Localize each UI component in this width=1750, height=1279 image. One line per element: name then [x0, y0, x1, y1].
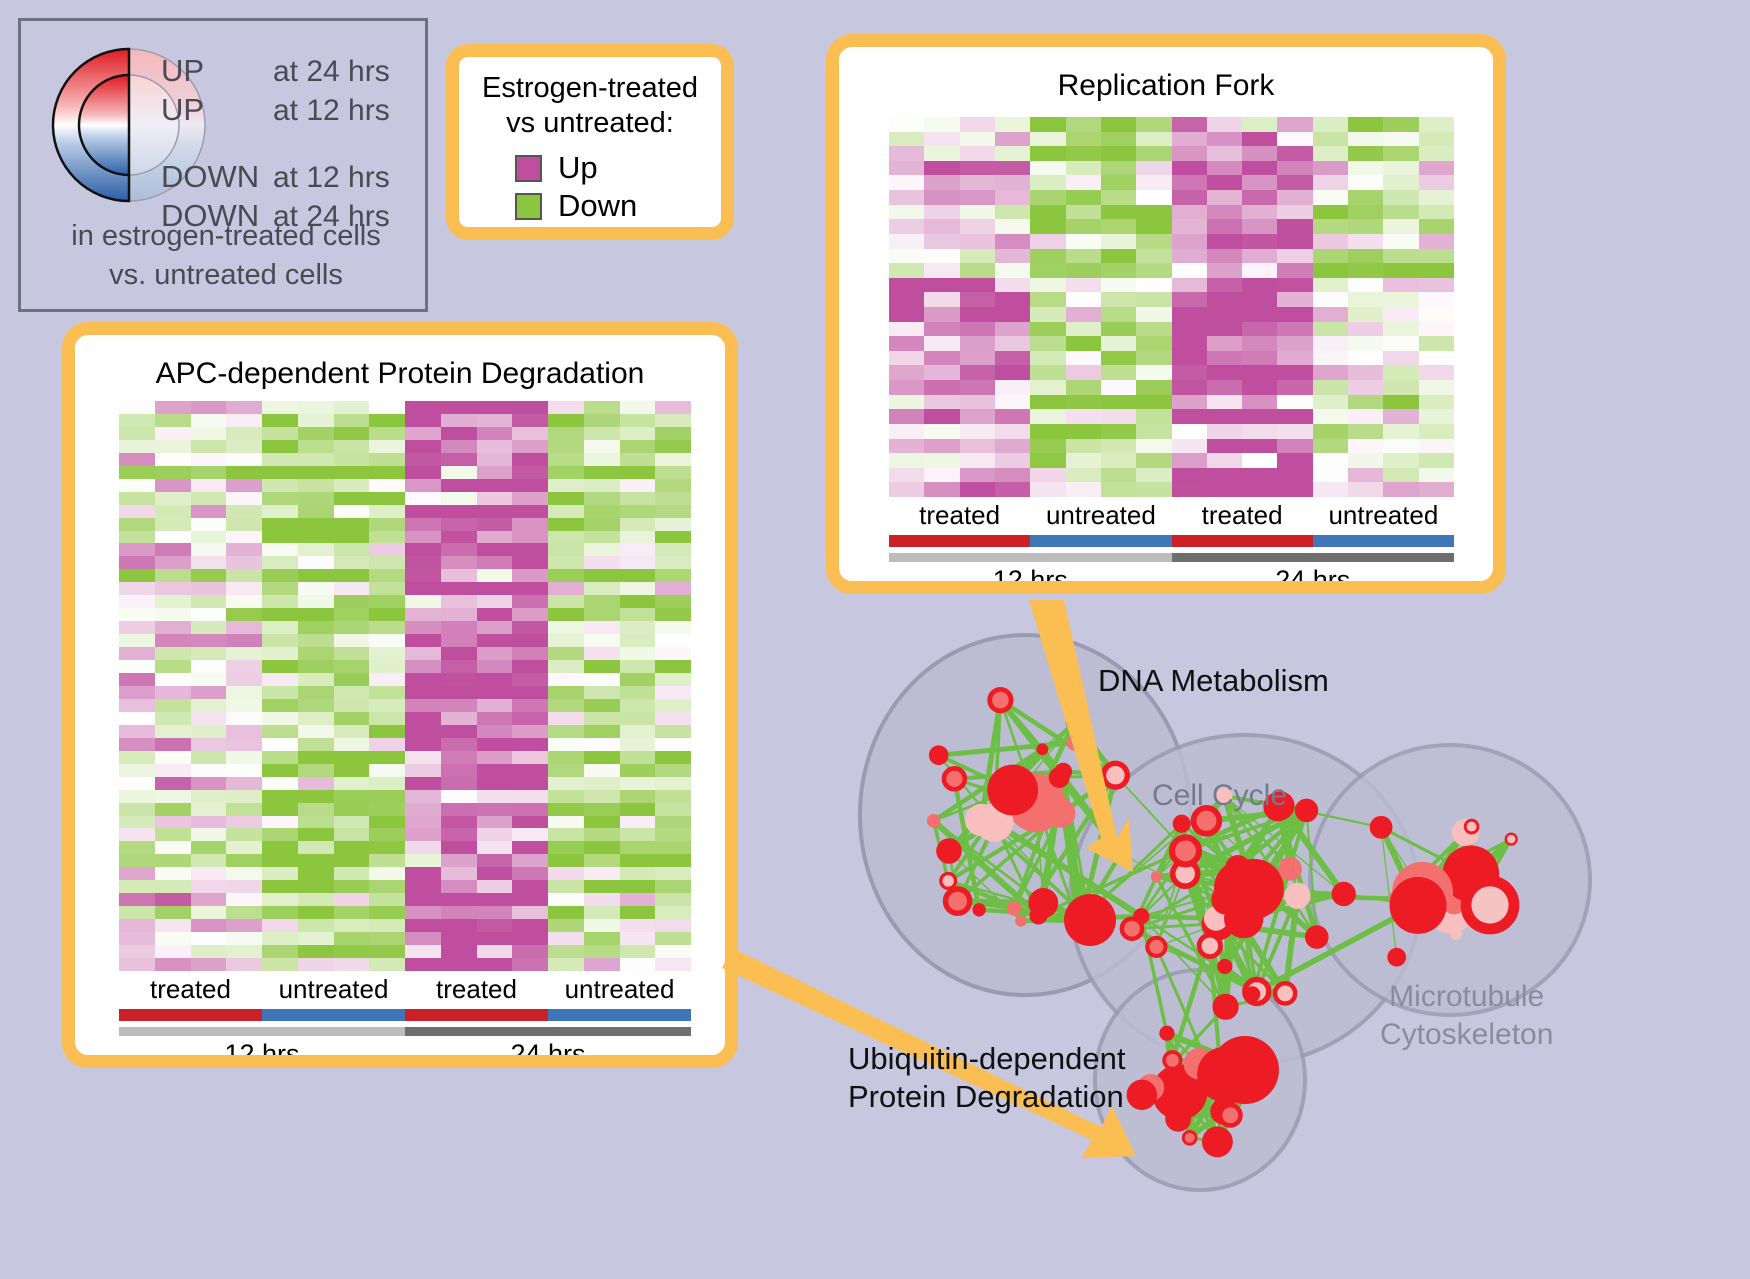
heatmap-cell: [119, 401, 155, 414]
heatmap-cell: [155, 828, 191, 841]
network-node: [1465, 820, 1478, 833]
heatmap-cell: [155, 466, 191, 479]
heatmap-cell: [119, 673, 155, 686]
heatmap-cell: [1313, 380, 1348, 395]
heatmap-cell: [512, 958, 548, 971]
heatmap-cell: [960, 424, 995, 439]
heatmap-cell: [334, 401, 370, 414]
heatmap-cell: [334, 945, 370, 958]
heatmap-cell: [119, 958, 155, 971]
heatmap-cell: [262, 686, 298, 699]
heatmap-cell: [262, 466, 298, 479]
heatmap-cell: [889, 409, 924, 424]
network-node: [1217, 959, 1232, 974]
network-label-ubiquitin-protein-degradation: Ubiquitin-dependent Protein Degradation: [848, 1040, 1126, 1116]
heatmap-cell: [1242, 336, 1277, 351]
heatmap-cell: [1419, 234, 1454, 249]
heatmap-cell: [262, 803, 298, 816]
heatmap-cell: [1277, 424, 1312, 439]
heatmap-cell: [298, 518, 334, 531]
heatmap-cell: [995, 482, 1030, 497]
heatmap-cell: [191, 828, 227, 841]
heatmap-cell: [369, 906, 405, 919]
heatmap-cell: [119, 803, 155, 816]
heatmap-cell: [477, 880, 513, 893]
heatmap-cell: [119, 945, 155, 958]
heatmap-cell: [155, 531, 191, 544]
heatmap-cell: [155, 777, 191, 790]
heatmap-cell: [1066, 468, 1101, 483]
heatmap-cell: [262, 531, 298, 544]
heatmap-cell: [1066, 322, 1101, 337]
heatmap-cell: [1101, 351, 1136, 366]
heatmap-cell: [334, 466, 370, 479]
heatmap-cell: [119, 828, 155, 841]
heatmap-cell: [620, 828, 656, 841]
heatmap-cell: [1172, 468, 1207, 483]
heatmap-cell: [1277, 336, 1312, 351]
heatmap-cell: [405, 764, 441, 777]
heatmap-cell: [960, 351, 995, 366]
heatmap-cell: [119, 932, 155, 945]
heatmap-cell: [584, 712, 620, 725]
heatmap-cell: [155, 492, 191, 505]
heatmap-cell: [155, 867, 191, 880]
heatmap-cell: [155, 647, 191, 660]
heatmap-cell: [441, 764, 477, 777]
heatmap-cell: [405, 621, 441, 634]
heatmap-cell: [1242, 439, 1277, 454]
heatmap-cell: [155, 906, 191, 919]
heatmap-cell: [1136, 249, 1171, 264]
heatmap-cell: [477, 919, 513, 932]
heatmap-cell: [191, 634, 227, 647]
heatmap-cell: [1172, 249, 1207, 264]
heatmap-cell: [512, 854, 548, 867]
heatmap-cell: [512, 608, 548, 621]
heatmap-cell: [960, 409, 995, 424]
heatmap-cell: [1348, 395, 1383, 410]
heatmap-cell: [119, 414, 155, 427]
heatmap-cell: [334, 479, 370, 492]
heatmap-cell: [995, 146, 1030, 161]
heatmap-cell: [1101, 336, 1136, 351]
heatmap-cell: [548, 854, 584, 867]
heatmap-cell: [1313, 205, 1348, 220]
heatmap-cell: [262, 932, 298, 945]
heatmap-cell: [584, 608, 620, 621]
heatmap-cell: [226, 777, 262, 790]
heatmap-cell: [262, 401, 298, 414]
heatmap-cell: [441, 401, 477, 414]
heatmap-cell: [262, 841, 298, 854]
heatmap-cell: [512, 479, 548, 492]
heatmap-cell: [262, 660, 298, 673]
heatmap-cell: [548, 945, 584, 958]
heatmap-cell: [584, 531, 620, 544]
heatmap-cell: [1066, 190, 1101, 205]
heatmap-cell: [548, 621, 584, 634]
heatmap-cell: [1242, 453, 1277, 468]
heatmap-cell: [334, 738, 370, 751]
heatmap-cell: [298, 582, 334, 595]
sample-group-bars-apc: [119, 1009, 691, 1021]
heatmap-cell: [226, 621, 262, 634]
heatmap-cell: [262, 582, 298, 595]
heatmap-cell: [548, 492, 584, 505]
heatmap-cell: [889, 453, 924, 468]
heatmap-cell: [405, 505, 441, 518]
heatmap-cell: [512, 906, 548, 919]
heatmap-cell: [924, 190, 959, 205]
heatmap-cell: [191, 880, 227, 893]
heatmap-cell: [119, 582, 155, 595]
color-key-box: UP at 24 hrs UP at 12 hrs DOWN at 12 hrs…: [18, 18, 428, 312]
heatmap-cell: [1383, 146, 1418, 161]
heatmap-cell: [477, 828, 513, 841]
network-node: [1036, 743, 1048, 755]
heatmap-cell: [1419, 190, 1454, 205]
heatmap-cell: [512, 945, 548, 958]
heatmap-cell: [1066, 117, 1101, 132]
heatmap-cell: [1348, 322, 1383, 337]
heatmap-cell: [1172, 482, 1207, 497]
heatmap-cell: [262, 453, 298, 466]
heatmap-cell: [298, 531, 334, 544]
heatmap-cell: [995, 190, 1030, 205]
heatmap-cell: [155, 414, 191, 427]
heatmap-cell: [262, 945, 298, 958]
heatmap-cell: [584, 919, 620, 932]
heatmap-cell: [298, 932, 334, 945]
heatmap-cell: [620, 803, 656, 816]
heatmap-cell: [548, 751, 584, 764]
heatmap-cell: [1136, 161, 1171, 176]
heatmap-cell: [548, 531, 584, 544]
heatmap-cell: [512, 893, 548, 906]
heatmap-cell: [655, 492, 691, 505]
heatmap-cell: [1383, 161, 1418, 176]
heatmap-cell: [1383, 395, 1418, 410]
heatmap-cell: [1242, 351, 1277, 366]
heatmap-cell: [1066, 365, 1101, 380]
heatmap-cell: [620, 764, 656, 777]
heatmap-cell: [1277, 278, 1312, 293]
heatmap-cell: [1207, 322, 1242, 337]
heatmap-cell: [924, 278, 959, 293]
heatmap-cell: [155, 543, 191, 556]
heatmap-cell: [191, 556, 227, 569]
heatmap-cell: [334, 751, 370, 764]
heatmap-cell: [369, 634, 405, 647]
heatmap-cell: [1101, 175, 1136, 190]
heatmap-cell: [584, 543, 620, 556]
heatmap-cell: [369, 751, 405, 764]
heatmap-cell: [512, 686, 548, 699]
heatmap-cell: [334, 958, 370, 971]
heatmap-cell: [477, 647, 513, 660]
sample-label: untreated: [1313, 499, 1454, 531]
heatmap-cell: [1277, 380, 1312, 395]
heatmap-cell: [155, 725, 191, 738]
heatmap-cell: [1419, 365, 1454, 380]
heatmap-cell: [1348, 380, 1383, 395]
heatmap-cell: [1207, 351, 1242, 366]
heatmap-cell: [548, 647, 584, 660]
network-node: [936, 838, 962, 864]
heatmap-cell: [1313, 190, 1348, 205]
heatmap-cell: [512, 803, 548, 816]
heatmap-cell: [1101, 409, 1136, 424]
heatmap-cell: [477, 453, 513, 466]
heatmap-cell: [1419, 380, 1454, 395]
heatmap-cell: [655, 479, 691, 492]
heatmap-cell: [191, 699, 227, 712]
heatmap-cell: [298, 621, 334, 634]
heatmap-cell: [441, 880, 477, 893]
heatmap-cell: [119, 634, 155, 647]
sample-group-bars-replication-fork: [889, 535, 1454, 547]
heatmap-cell: [226, 582, 262, 595]
heatmap-cell: [334, 854, 370, 867]
heatmap-cell: [1172, 351, 1207, 366]
heatmap-cell: [119, 841, 155, 854]
color-key-row: UP at 24 hrs: [161, 51, 426, 90]
heatmap-cell: [191, 790, 227, 803]
heatmap-cell: [1207, 219, 1242, 234]
heatmap-cell: [1383, 424, 1418, 439]
heatmap-cell: [298, 647, 334, 660]
heatmap-cell: [1101, 161, 1136, 176]
heatmap-cell: [1172, 424, 1207, 439]
heatmap-cell: [1242, 322, 1277, 337]
heatmap-cell: [655, 880, 691, 893]
heatmap-cell: [441, 518, 477, 531]
heatmap-cell: [155, 634, 191, 647]
heatmap-cell: [298, 958, 334, 971]
heatmap-cell: [1066, 482, 1101, 497]
heatmap-cell: [1172, 263, 1207, 278]
heatmap-cell: [1136, 292, 1171, 307]
heatmap-cell: [655, 608, 691, 621]
heatmap-cell: [1207, 278, 1242, 293]
heatmap-cell: [298, 816, 334, 829]
network-node: [931, 747, 947, 763]
heatmap-cell: [1101, 439, 1136, 454]
legend-swatch-down: [515, 193, 542, 220]
heatmap-cell: [119, 919, 155, 932]
heatmap-cell: [960, 161, 995, 176]
network-node: [1332, 882, 1356, 906]
heatmap-cell: [548, 867, 584, 880]
heatmap-cell: [1242, 205, 1277, 220]
heatmap-cell: [1277, 409, 1312, 424]
heatmap-cell: [1419, 351, 1454, 366]
heatmap-cell: [191, 919, 227, 932]
heatmap-cell: [155, 582, 191, 595]
heatmap-cell: [1101, 219, 1136, 234]
heatmap-cell: [1419, 292, 1454, 307]
heatmap-cell: [548, 660, 584, 673]
heatmap-cell: [405, 556, 441, 569]
heatmap-cell: [1313, 468, 1348, 483]
heatmap-cell: [262, 543, 298, 556]
heatmap-cell: [1136, 482, 1171, 497]
heatmap-cell: [155, 854, 191, 867]
heatmap-cell: [1313, 234, 1348, 249]
heatmap-cell: [512, 582, 548, 595]
heatmap-cell: [548, 569, 584, 582]
heatmap-cell: [298, 738, 334, 751]
heatmap-cell: [889, 175, 924, 190]
heatmap-cell: [369, 725, 405, 738]
color-key-rows: UP at 24 hrs UP at 12 hrs DOWN at 12 hrs…: [161, 51, 426, 235]
heatmap-cell: [960, 234, 995, 249]
heatmap-cell: [441, 867, 477, 880]
heatmap-cell: [584, 479, 620, 492]
heatmap-cell: [960, 117, 995, 132]
heatmap-cell: [334, 582, 370, 595]
network-node: [1213, 994, 1239, 1020]
network-node: [1104, 763, 1128, 787]
heatmap-cell: [1242, 161, 1277, 176]
heatmap-cell: [369, 621, 405, 634]
heatmap-cell: [262, 712, 298, 725]
heatmap-cell: [924, 468, 959, 483]
heatmap-cell: [441, 440, 477, 453]
heatmap-cell: [889, 336, 924, 351]
heatmap-cell: [1207, 190, 1242, 205]
heatmap-cell: [226, 647, 262, 660]
heatmap-cell: [441, 466, 477, 479]
heatmap-cell: [262, 828, 298, 841]
heatmap-cell: [405, 958, 441, 971]
heatmap-cell: [226, 932, 262, 945]
heatmap-cell: [1313, 395, 1348, 410]
heatmap-cell: [405, 816, 441, 829]
heatmap-cell: [655, 427, 691, 440]
heatmap-cell: [226, 738, 262, 751]
heatmap-cell: [155, 893, 191, 906]
heatmap-cell: [155, 556, 191, 569]
heatmap-cell: [226, 880, 262, 893]
heatmap-cell: [1207, 307, 1242, 322]
heatmap-cell: [1383, 453, 1418, 468]
heatmap-cell: [1066, 175, 1101, 190]
heatmap-cell: [119, 790, 155, 803]
heatmap-cell: [1136, 205, 1171, 220]
heatmap-cell: [512, 569, 548, 582]
heatmap-cell: [1066, 380, 1101, 395]
heatmap-cell: [226, 816, 262, 829]
heatmap-cell: [655, 828, 691, 841]
heatmap-cell: [512, 725, 548, 738]
heatmap-cell: [655, 453, 691, 466]
heatmap-cell: [334, 440, 370, 453]
heatmap-cell: [334, 803, 370, 816]
heatmap-cell: [584, 906, 620, 919]
heatmap-cell: [1313, 336, 1348, 351]
heatmap-cell: [620, 582, 656, 595]
heatmap-cell: [441, 790, 477, 803]
legend-title-line2: vs untreated:: [459, 106, 721, 141]
heatmap-cell: [155, 569, 191, 582]
heatmap-cell: [1030, 453, 1065, 468]
network-node: [1506, 834, 1517, 845]
heatmap-cell: [1313, 161, 1348, 176]
heatmap-cell: [405, 440, 441, 453]
color-key-time: at 12 hrs: [273, 91, 390, 130]
heatmap-cell: [477, 738, 513, 751]
heatmap-cell: [226, 492, 262, 505]
heatmap-cell: [1207, 117, 1242, 132]
heatmap-cell: [1207, 468, 1242, 483]
heatmap-cell: [441, 479, 477, 492]
heatmap-cell: [298, 945, 334, 958]
heatmap-cell: [298, 867, 334, 880]
heatmap-cell: [119, 621, 155, 634]
color-key-time: at 24 hrs: [273, 52, 390, 91]
heatmap-cell: [924, 161, 959, 176]
heatmap-cell: [405, 712, 441, 725]
heatmap-cell: [889, 380, 924, 395]
heatmap-cell: [119, 867, 155, 880]
heatmap-cell: [369, 582, 405, 595]
heatmap-cell: [405, 893, 441, 906]
heatmap-cell: [1277, 132, 1312, 147]
heatmap-cell: [119, 556, 155, 569]
heatmap-grid-apc: [119, 401, 691, 971]
heatmap-cell: [369, 803, 405, 816]
heatmap-cell: [155, 790, 191, 803]
heatmap-cell: [584, 803, 620, 816]
heatmap-cell: [191, 725, 227, 738]
heatmap-cell: [369, 712, 405, 725]
heatmap-cell: [512, 531, 548, 544]
heatmap-cell: [995, 278, 1030, 293]
heatmap-cell: [960, 439, 995, 454]
heatmap-cell: [512, 828, 548, 841]
heatmap-cell: [226, 945, 262, 958]
heatmap-cell: [1136, 219, 1171, 234]
heatmap-cell: [1383, 117, 1418, 132]
heatmap-cell: [226, 686, 262, 699]
heatmap-cell: [1172, 365, 1207, 380]
heatmap-cell: [369, 932, 405, 945]
heatmap-cell: [441, 543, 477, 556]
heatmap-cell: [405, 543, 441, 556]
heatmap-cell: [548, 505, 584, 518]
heatmap-cell: [119, 686, 155, 699]
network-node: [1122, 919, 1142, 939]
heatmap-cell: [512, 764, 548, 777]
heatmap-cell: [441, 427, 477, 440]
network-node: [1284, 883, 1310, 909]
heatmap-cell: [924, 263, 959, 278]
heatmap-cell: [191, 673, 227, 686]
heatmap-cell: [584, 492, 620, 505]
heatmap-cell: [441, 816, 477, 829]
heatmap-cell: [1348, 175, 1383, 190]
heatmap-cell: [191, 738, 227, 751]
heatmap-cell: [548, 712, 584, 725]
network-node: [1278, 857, 1302, 881]
heatmap-cell: [226, 828, 262, 841]
heatmap-cell: [1136, 322, 1171, 337]
heatmap-cell: [512, 518, 548, 531]
heatmap-cell: [119, 427, 155, 440]
heatmap-cell: [1207, 205, 1242, 220]
